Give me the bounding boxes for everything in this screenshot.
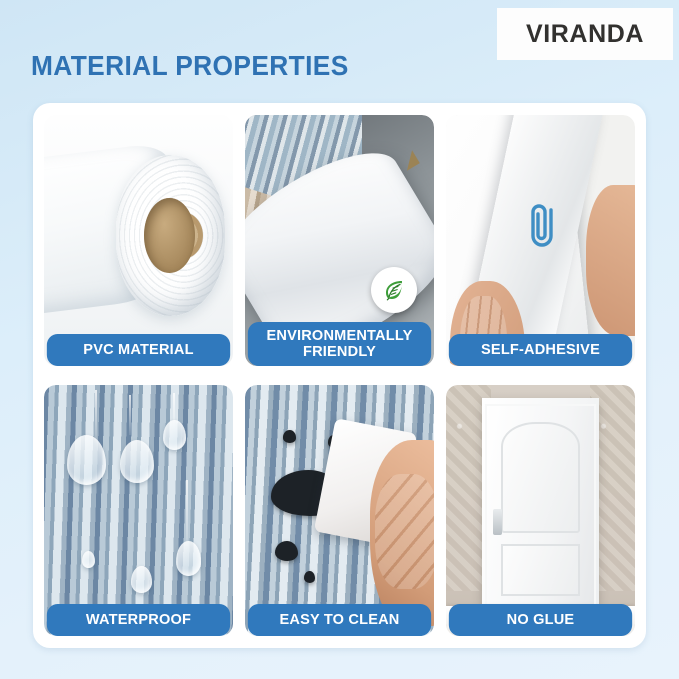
- feature-label-environmentally-friendly: ENVIRONMENTALLY FRIENDLY: [248, 322, 431, 366]
- door-leaf: [485, 404, 595, 606]
- water-trail: [95, 390, 97, 440]
- easy-to-clean-image: [245, 385, 434, 636]
- eco-sheet-corner: [399, 150, 420, 171]
- door-panel-lower: [501, 544, 580, 596]
- feature-row-2: WATERPROOF EASY TO CLEAN: [44, 385, 635, 636]
- right-hand: [586, 185, 635, 336]
- feature-card-self-adhesive[interactable]: SELF-ADHESIVE: [446, 115, 635, 366]
- feature-card-easy-to-clean[interactable]: EASY TO CLEAN: [245, 385, 434, 636]
- pvc-cardboard-core: [144, 198, 195, 273]
- water-droplet: [176, 541, 201, 576]
- water-droplet: [82, 551, 95, 569]
- door-panel-upper: [501, 422, 580, 533]
- feature-card-environmentally-friendly[interactable]: ENVIRONMENTALLY FRIENDLY: [245, 115, 434, 366]
- waterproof-image: [44, 385, 233, 636]
- feature-label-self-adhesive: SELF-ADHESIVE: [449, 334, 632, 366]
- water-droplet: [131, 566, 152, 594]
- features-panel: PVC MATERIAL ENVIRONMENTALLY FRIENDLY: [33, 103, 646, 648]
- feature-label-pvc-material: PVC MATERIAL: [47, 334, 230, 366]
- brand-logo-box: VIRANDA: [497, 8, 673, 60]
- hand-holding-cloth: [370, 440, 434, 626]
- pvc-roll-image: [44, 115, 233, 366]
- stain-mark: [283, 430, 296, 443]
- door-frame: [482, 398, 599, 606]
- page-title: MATERIAL PROPERTIES: [31, 50, 349, 82]
- water-droplet: [67, 435, 107, 485]
- feature-card-pvc-material[interactable]: PVC MATERIAL: [44, 115, 233, 366]
- no-glue-door-image: [446, 385, 635, 636]
- paperclip-icon: [529, 198, 563, 255]
- feature-label-easy-to-clean: EASY TO CLEAN: [248, 604, 431, 636]
- leaf-icon: [371, 267, 417, 313]
- water-trail: [129, 395, 131, 435]
- feature-card-waterproof[interactable]: WATERPROOF: [44, 385, 233, 636]
- brand-name: VIRANDA: [526, 20, 644, 49]
- feature-row-1: PVC MATERIAL ENVIRONMENTALLY FRIENDLY: [44, 115, 635, 366]
- feature-card-no-glue[interactable]: NO GLUE: [446, 385, 635, 636]
- stain-mark: [304, 571, 315, 584]
- door-handle: [493, 509, 503, 535]
- stain-mark: [275, 541, 298, 561]
- self-adhesive-image: [446, 115, 635, 366]
- water-droplet: [120, 440, 154, 483]
- water-droplet: [163, 420, 186, 450]
- feature-label-waterproof: WATERPROOF: [47, 604, 230, 636]
- water-trail: [186, 480, 188, 545]
- feature-label-no-glue: NO GLUE: [449, 604, 632, 636]
